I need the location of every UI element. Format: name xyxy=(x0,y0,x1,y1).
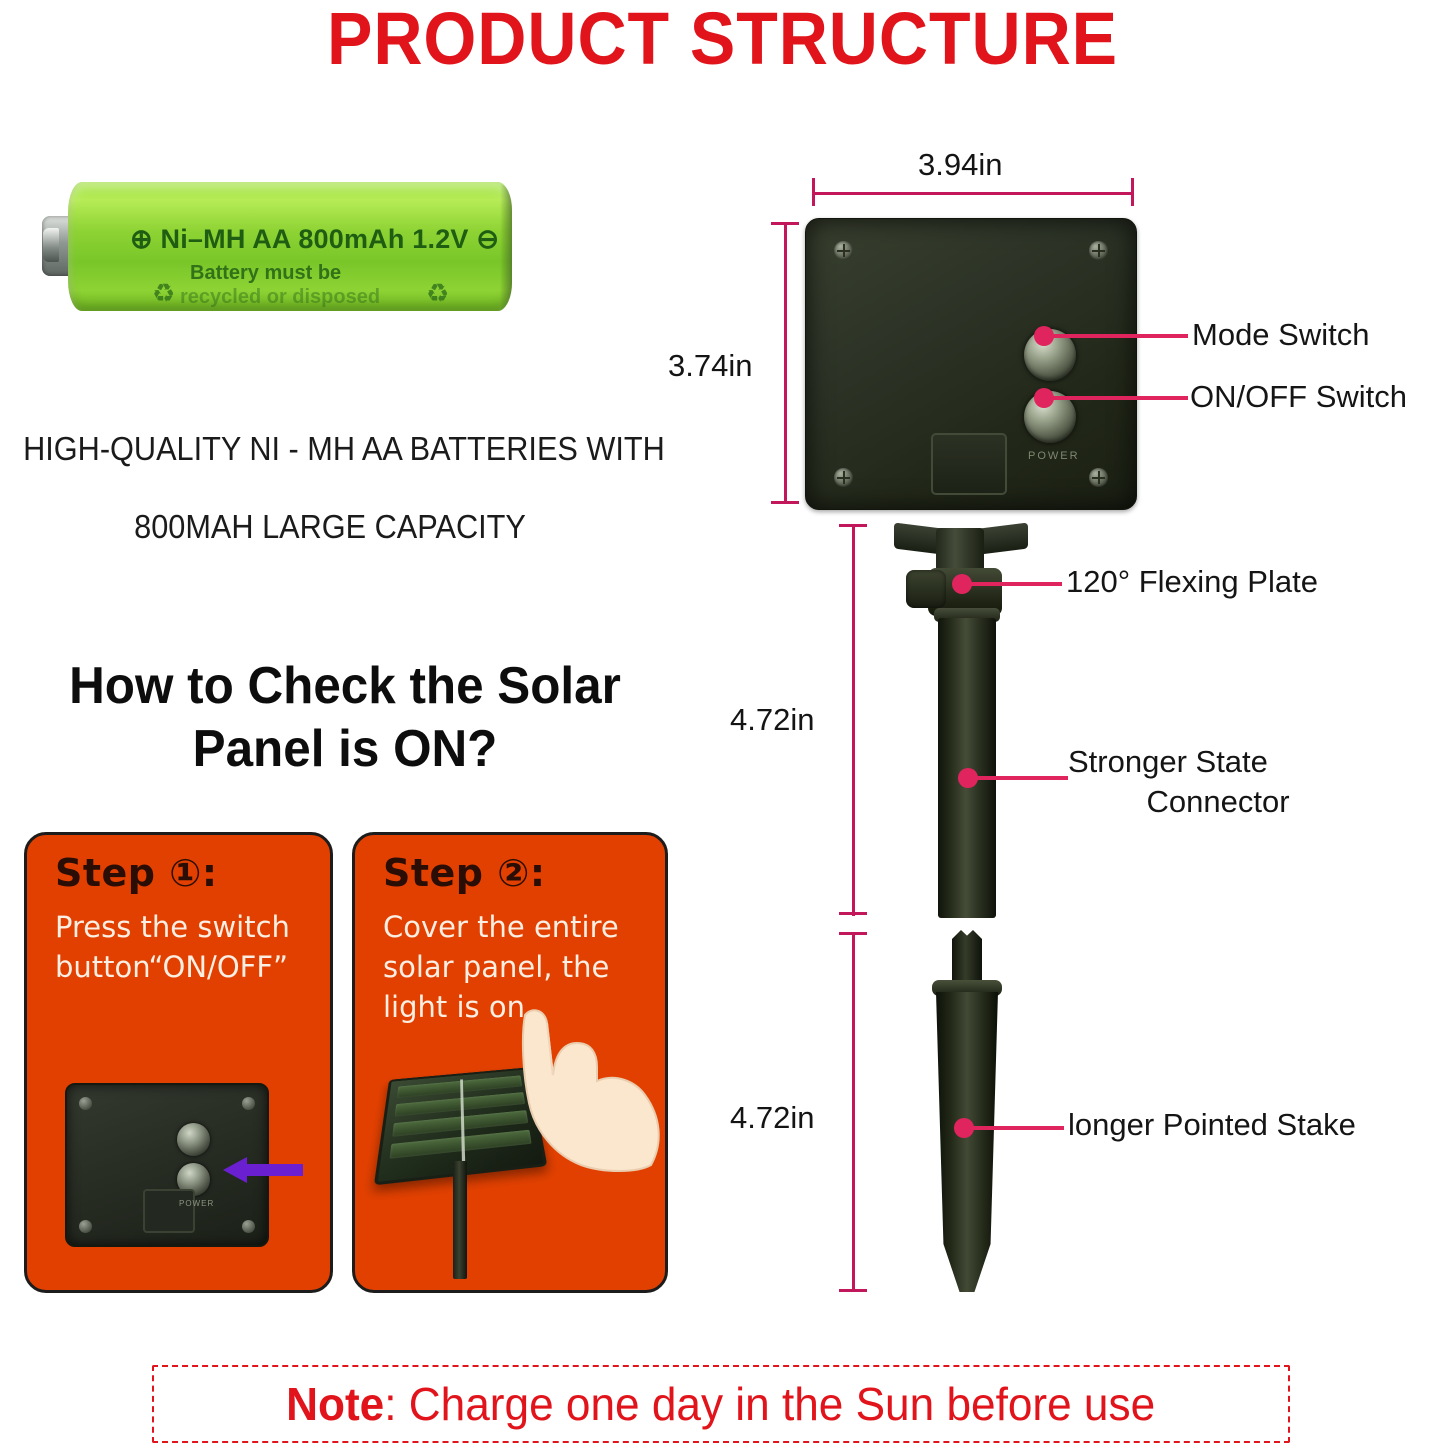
flexing-plate-leader-line xyxy=(962,582,1062,586)
mini-mode-switch-button xyxy=(177,1123,210,1156)
onoff-switch-label: ON/OFF Switch xyxy=(1190,377,1407,417)
mini-panel-boss xyxy=(143,1189,195,1233)
thumbscrew-knob xyxy=(906,570,946,608)
battery-caption: HIGH-QUALITY NI - MH AA BATTERIES WITH 8… xyxy=(23,410,637,566)
state-connector-leader-line xyxy=(968,776,1068,780)
mini-screw-bottom-left xyxy=(79,1220,92,1233)
width-dimension-cap-left xyxy=(812,178,815,206)
panel-screw-bottom-right xyxy=(1089,468,1108,487)
note-text: Note: Charge one day in the Sun before u… xyxy=(286,1377,1155,1431)
page-title: PRODUCT STRUCTURE xyxy=(58,2,1387,76)
step-2-body-line-1: Cover the entire xyxy=(383,907,651,947)
note-prefix: Note xyxy=(286,1378,384,1430)
mini-screw-bottom-right xyxy=(242,1220,255,1233)
mode-switch-label: Mode Switch xyxy=(1192,315,1369,355)
panel-screw-top-right xyxy=(1089,241,1108,260)
battery-caption-line-2: 800MAH LARGE CAPACITY xyxy=(23,488,637,566)
step-1-body: Press the switch button“ON/OFF” xyxy=(55,907,323,987)
battery-spec-text: ⊕ Ni–MH AA 800mAh 1.2V ⊖ xyxy=(130,224,480,255)
panel-screw-top-left xyxy=(834,241,853,260)
pointed-stake-label: longer Pointed Stake xyxy=(1068,1105,1356,1145)
step-card-2: Step ②: Cover the entire solar panel, th… xyxy=(352,832,668,1293)
flexing-plate-label: 120° Flexing Plate xyxy=(1066,562,1318,602)
pole-dimension-cap-top xyxy=(839,524,867,527)
step-2-body-line-2: solar panel, the xyxy=(383,947,651,987)
panel-mount-boss xyxy=(931,433,1007,495)
mini-power-label: POWER xyxy=(179,1199,214,1208)
step-2-title: Step ②: xyxy=(383,851,546,895)
howto-heading-line-2: Panel is ON? xyxy=(17,718,673,781)
panel-screw-bottom-left xyxy=(834,468,853,487)
step-1-title: Step ①: xyxy=(55,851,218,895)
pole-dimension-line xyxy=(852,524,855,916)
battery-edge-shade xyxy=(500,184,512,309)
purple-pointer-arrow xyxy=(223,1155,303,1185)
height-dimension-cap-top xyxy=(771,222,799,225)
stake-dimension-line xyxy=(852,932,855,1292)
stake-notched-top xyxy=(952,930,982,986)
hand-icon xyxy=(511,1003,668,1173)
height-dimension-label: 3.74in xyxy=(668,348,752,384)
pole-dimension-label: 4.72in xyxy=(730,702,814,738)
state-connector-label-line-2: Connector xyxy=(1068,782,1368,822)
note-body: : Charge one day in the Sun before use xyxy=(385,1378,1156,1430)
stake-dimension-cap-bottom xyxy=(839,1289,867,1292)
howto-heading: How to Check the Solar Panel is ON? xyxy=(17,655,673,781)
state-connector-label-line-1: Stronger State xyxy=(1068,742,1368,782)
crossed-bin-icon: ♻ xyxy=(426,278,449,309)
battery-terminal-nub xyxy=(43,228,59,262)
note-box: Note: Charge one day in the Sun before u… xyxy=(152,1365,1290,1443)
width-dimension-label: 3.94in xyxy=(918,147,1002,183)
height-dimension-cap-bottom xyxy=(771,501,799,504)
solar-panel-back xyxy=(805,218,1137,510)
mode-switch-leader-line xyxy=(1044,334,1188,338)
width-dimension-cap-right xyxy=(1131,178,1134,206)
step-1-body-line-2: button“ON/OFF” xyxy=(55,947,323,987)
stake-dimension-label: 4.72in xyxy=(730,1100,814,1136)
step-1-body-line-1: Press the switch xyxy=(55,907,323,947)
mini-screw-top-right xyxy=(242,1097,255,1110)
mini-screw-top-left xyxy=(79,1097,92,1110)
height-dimension-line xyxy=(784,222,787,504)
recycle-icon: ♻ xyxy=(152,278,175,309)
pointed-stake-body xyxy=(936,992,998,1292)
battery-warning-line2: recycled or disposed xyxy=(180,286,500,308)
step-2-pole xyxy=(453,1161,467,1279)
width-dimension-line xyxy=(812,192,1134,195)
howto-heading-line-1: How to Check the Solar xyxy=(17,655,673,718)
stake-dimension-cap-top xyxy=(839,932,867,935)
battery-caption-line-1: HIGH-QUALITY NI - MH AA BATTERIES WITH xyxy=(23,410,637,488)
step-card-1: Step ①: Press the switch button“ON/OFF” … xyxy=(24,832,333,1293)
onoff-switch-leader-line xyxy=(1044,396,1188,400)
state-connector-label: Stronger State Connector xyxy=(1068,742,1368,822)
pointed-stake-leader-line xyxy=(964,1126,1064,1130)
product-structure-infographic: PRODUCT STRUCTURE ⊕ Ni–MH AA 800mAh 1.2V… xyxy=(0,0,1445,1456)
power-marking-label: POWER xyxy=(1028,450,1080,462)
battery-illustration: ⊕ Ni–MH AA 800mAh 1.2V ⊖ Battery must be… xyxy=(42,182,512,312)
pole-dimension-cap-bottom xyxy=(839,912,867,915)
